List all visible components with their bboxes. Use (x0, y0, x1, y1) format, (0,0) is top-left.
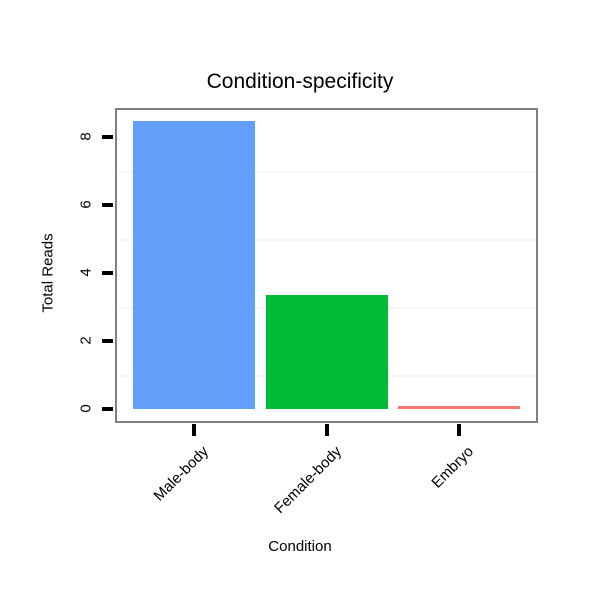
x-tick-label: Female-body (191, 443, 344, 596)
chart-figure: Condition-specificity Total Reads 02468 … (0, 0, 600, 600)
x-tick-label: Male-body (59, 443, 212, 596)
y-tick-label: 6 (78, 197, 95, 213)
y-tick-label: 2 (78, 333, 95, 349)
plot-area (117, 110, 536, 421)
y-tick-mark (102, 271, 113, 275)
y-tick-mark (102, 203, 113, 207)
x-axis-title: Condition (0, 538, 600, 555)
y-tick-mark (102, 407, 113, 411)
y-tick-label: 4 (78, 265, 95, 281)
x-tick-label: Embryo (324, 443, 477, 596)
y-tick-label: 0 (78, 401, 95, 417)
y-tick-mark (102, 339, 113, 343)
bar[interactable] (266, 295, 388, 409)
x-tick-mark (457, 424, 461, 436)
y-tick-label: 8 (78, 129, 95, 145)
plot-panel (115, 108, 538, 423)
bar[interactable] (133, 121, 255, 409)
y-tick-mark (102, 135, 113, 139)
bar[interactable] (398, 406, 520, 409)
chart-title: Condition-specificity (0, 70, 600, 94)
x-tick-mark (192, 424, 196, 436)
x-tick-mark (325, 424, 329, 436)
